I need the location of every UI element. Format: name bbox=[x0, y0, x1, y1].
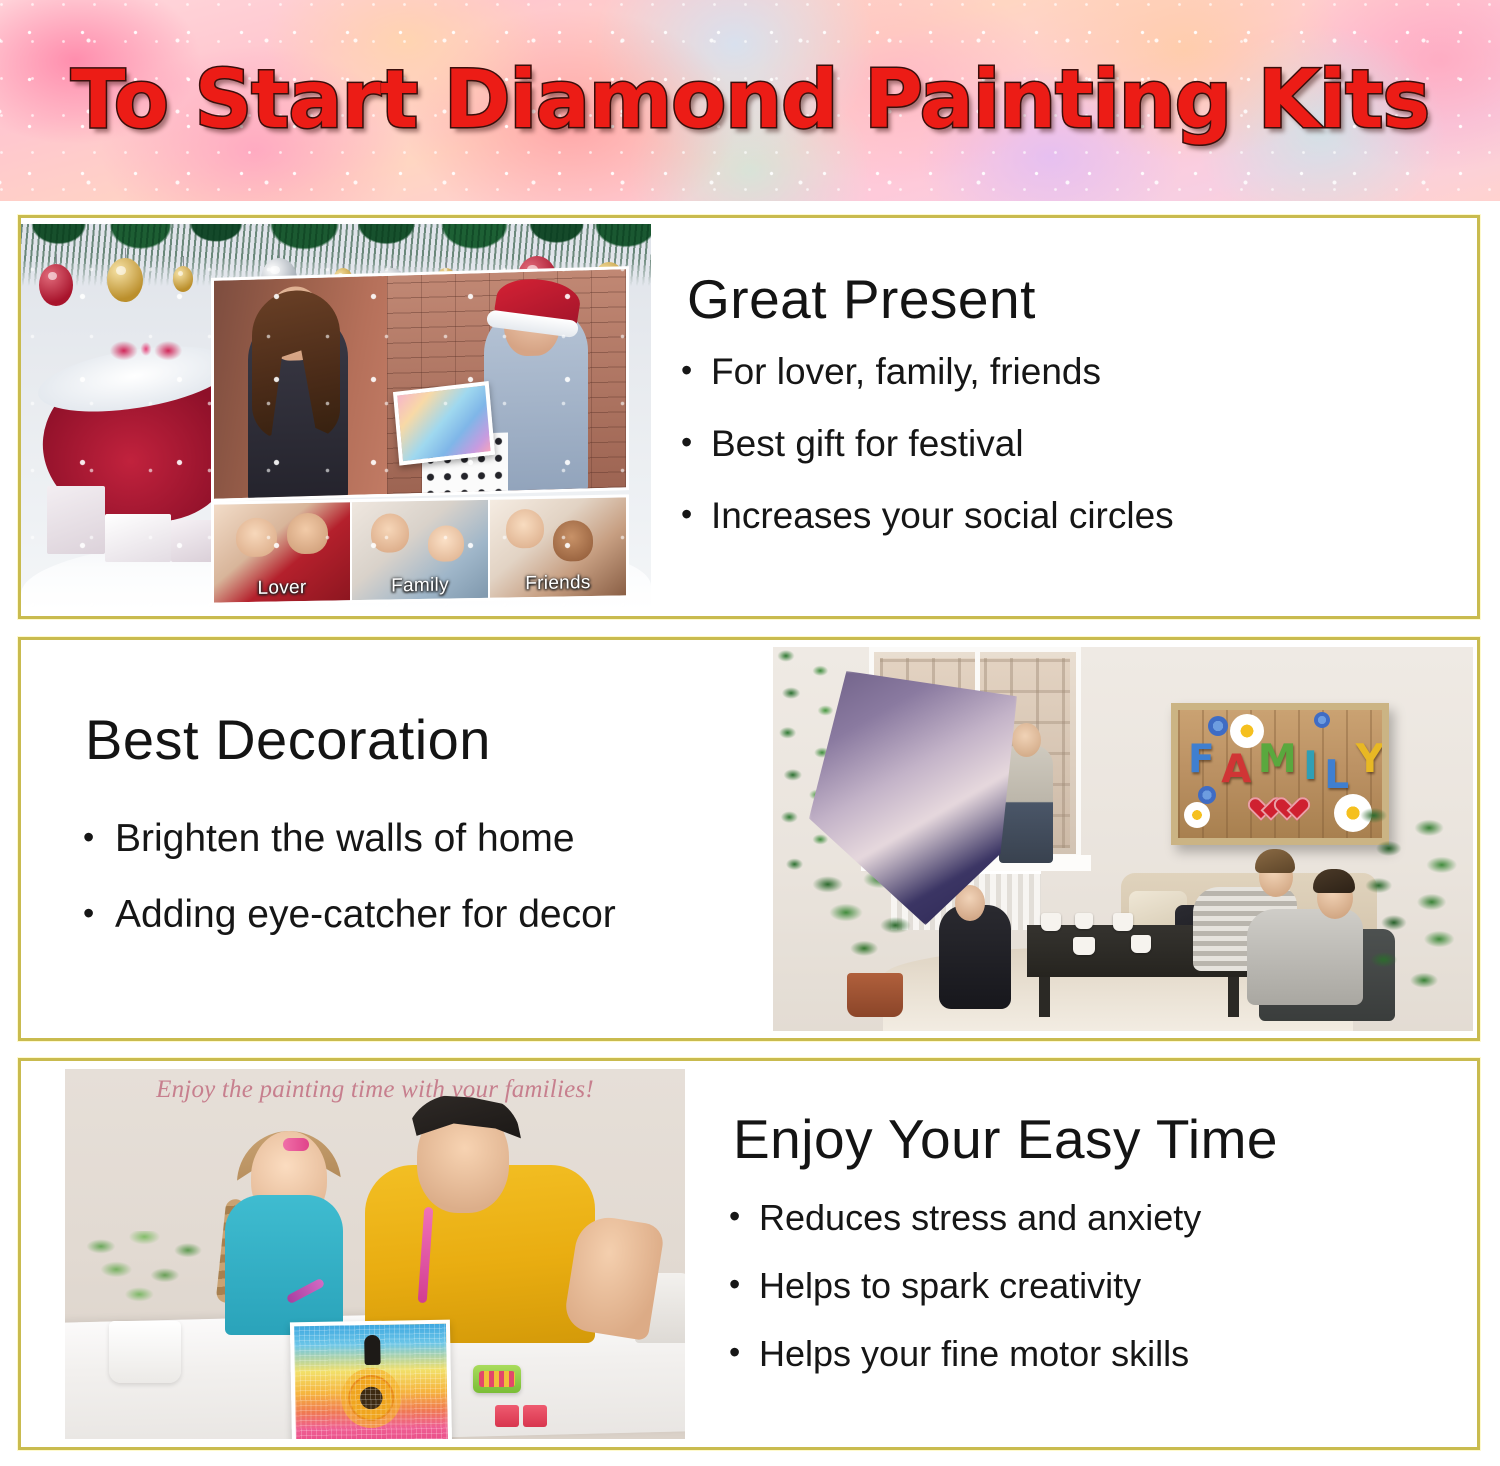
family-letter: M bbox=[1258, 738, 1297, 782]
gift-box bbox=[47, 486, 105, 554]
photo-label-lover: Lover bbox=[214, 576, 350, 600]
diamond-tray-icon bbox=[473, 1365, 521, 1393]
photo-lover: Lover bbox=[214, 502, 350, 602]
list-item: For lover, family, friends bbox=[677, 350, 1451, 394]
diamond-baggie bbox=[523, 1405, 547, 1427]
family-letter: I bbox=[1303, 745, 1318, 789]
photo-great-present-wrap: Lover Family Friends bbox=[21, 224, 651, 610]
face-shape bbox=[553, 520, 594, 562]
white-flower-pot bbox=[109, 1321, 181, 1383]
daisy-flower-icon bbox=[1184, 802, 1210, 828]
coffee-cup bbox=[1131, 935, 1151, 953]
coffee-cup bbox=[1113, 913, 1133, 931]
ornament-icon bbox=[39, 264, 73, 306]
feature-panel-best-decoration: Best Decoration Brighten the walls of ho… bbox=[18, 637, 1480, 1041]
face-shape bbox=[236, 517, 277, 557]
diamond-grid-texture bbox=[294, 1324, 448, 1439]
cornflower-icon bbox=[1208, 716, 1228, 736]
person-giver bbox=[248, 311, 348, 502]
photo-father-daughter-painting: Enjoy the painting time with your famili… bbox=[65, 1069, 685, 1439]
list-item: Reduces stress and anxiety bbox=[725, 1196, 1451, 1240]
gift-bow-icon bbox=[109, 332, 183, 366]
potted-plant bbox=[83, 1231, 211, 1327]
person-on-sofa-front bbox=[1247, 909, 1363, 1005]
potted-plant-right bbox=[1351, 799, 1473, 1005]
list-item: Helps to spark creativity bbox=[725, 1264, 1451, 1308]
list-item: Helps your fine motor skills bbox=[725, 1332, 1451, 1376]
hair-clip-icon bbox=[283, 1138, 309, 1151]
cornflower-icon bbox=[1314, 712, 1330, 728]
text-column-best-decoration: Best Decoration Brighten the walls of ho… bbox=[21, 709, 773, 969]
heart-icon bbox=[1282, 798, 1308, 822]
photo-living-room: F A M I L Y bbox=[773, 647, 1473, 1031]
list-item: Adding eye-catcher for decor bbox=[79, 893, 747, 937]
terracotta-pot bbox=[847, 973, 903, 1017]
sunflower-diamond-painting bbox=[290, 1320, 452, 1439]
face-shape bbox=[287, 512, 328, 554]
benefit-list: Reduces stress and anxiety Helps to spar… bbox=[725, 1196, 1451, 1376]
person-on-floor bbox=[939, 905, 1011, 1009]
benefit-list: Brighten the walls of home Adding eye-ca… bbox=[79, 817, 747, 937]
coffee-cup bbox=[1075, 913, 1093, 929]
photo-enjoy-time-wrap: Enjoy the painting time with your famili… bbox=[21, 1069, 685, 1439]
daisy-flower-icon bbox=[1230, 714, 1264, 748]
photo-label-friends: Friends bbox=[490, 571, 626, 595]
header-banner: To Start Diamond Painting Kits bbox=[0, 0, 1500, 201]
photo-gift-exchange bbox=[211, 266, 629, 502]
gift-box bbox=[105, 514, 171, 562]
panel-heading: Best Decoration bbox=[85, 709, 747, 771]
family-letter: F bbox=[1188, 738, 1215, 782]
photo-family: Family bbox=[350, 500, 488, 600]
coffee-cup bbox=[1073, 937, 1095, 955]
ornament-icon bbox=[173, 266, 193, 292]
face-shape bbox=[506, 509, 544, 549]
list-item: Brighten the walls of home bbox=[79, 817, 747, 861]
family-letter: A bbox=[1221, 748, 1251, 792]
family-letter: Y bbox=[1356, 738, 1384, 782]
face-shape bbox=[371, 513, 409, 553]
page-title: To Start Diamond Painting Kits bbox=[0, 52, 1500, 148]
photo-best-decoration-wrap: F A M I L Y bbox=[773, 647, 1477, 1031]
benefit-list: For lover, family, friends Best gift for… bbox=[677, 350, 1451, 538]
list-item: Increases your social circles bbox=[677, 494, 1451, 538]
diamond-painting-canvas bbox=[393, 381, 495, 466]
photo-christmas-gifting: Lover Family Friends bbox=[21, 224, 651, 610]
photo-caption: Enjoy the painting time with your famili… bbox=[65, 1075, 685, 1105]
text-column-enjoy-time: Enjoy Your Easy Time Reduces stress and … bbox=[685, 1108, 1477, 1400]
panel-heading: Enjoy Your Easy Time bbox=[733, 1108, 1451, 1170]
family-letter: L bbox=[1324, 754, 1349, 798]
ornament-icon bbox=[107, 258, 143, 302]
list-item: Best gift for festival bbox=[677, 422, 1451, 466]
panel-heading: Great Present bbox=[687, 268, 1451, 330]
photo-friends: Friends bbox=[488, 497, 626, 597]
feature-panel-enjoy-your-easy-time: Enjoy the painting time with your famili… bbox=[18, 1058, 1480, 1450]
cornflower-icon bbox=[1198, 786, 1216, 804]
photo-label-family: Family bbox=[352, 574, 488, 598]
family-word: F A M I L Y bbox=[1188, 738, 1384, 782]
feature-panel-great-present: Lover Family Friends Great bbox=[18, 215, 1480, 619]
face-shape bbox=[428, 526, 463, 562]
coffee-cup bbox=[1041, 913, 1061, 931]
relationship-photo-strip: Lover Family Friends bbox=[211, 494, 629, 605]
diamond-baggie bbox=[495, 1405, 519, 1427]
child-body bbox=[225, 1195, 343, 1335]
text-column-great-present: Great Present For lover, family, friends… bbox=[651, 268, 1477, 566]
